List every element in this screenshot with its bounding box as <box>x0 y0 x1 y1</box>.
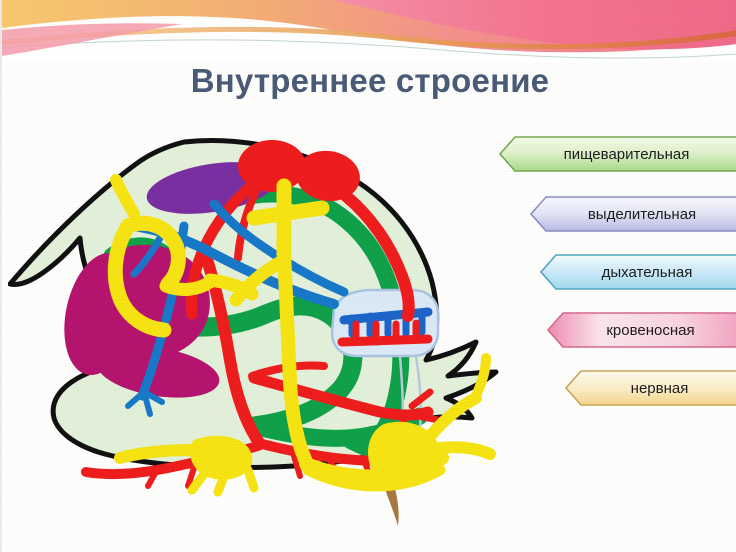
anatomy-svg <box>8 134 518 534</box>
nervous-foot-branches <box>192 470 254 492</box>
page-title: Внутреннее строение <box>2 62 736 100</box>
snail-internal-anatomy-diagram <box>8 134 518 534</box>
decorative-swoosh-banner <box>2 0 736 62</box>
organ-systems-legend: пищеварительная выделительная <box>492 126 736 416</box>
legend-label-nervous: нервная <box>565 380 736 397</box>
banner-svg <box>2 0 736 62</box>
legend-item-circulatory[interactable]: кровеносная <box>547 312 736 348</box>
legend-item-excretory[interactable]: выделительная <box>530 196 736 232</box>
legend-label-respiratory: дыхательная <box>540 264 736 281</box>
presentation-slide: Внутреннее строение <box>0 0 736 552</box>
legend-label-circulatory: кровеносная <box>547 322 736 339</box>
legend-item-nervous[interactable]: нервная <box>565 370 736 406</box>
legend-item-respiratory[interactable]: дыхательная <box>540 254 736 290</box>
legend-label-digestive: пищеварительная <box>499 146 736 163</box>
legend-label-excretory: выделительная <box>530 206 736 223</box>
nervous-connective-left <box>166 282 210 289</box>
legend-item-digestive[interactable]: пищеварительная <box>499 136 736 172</box>
